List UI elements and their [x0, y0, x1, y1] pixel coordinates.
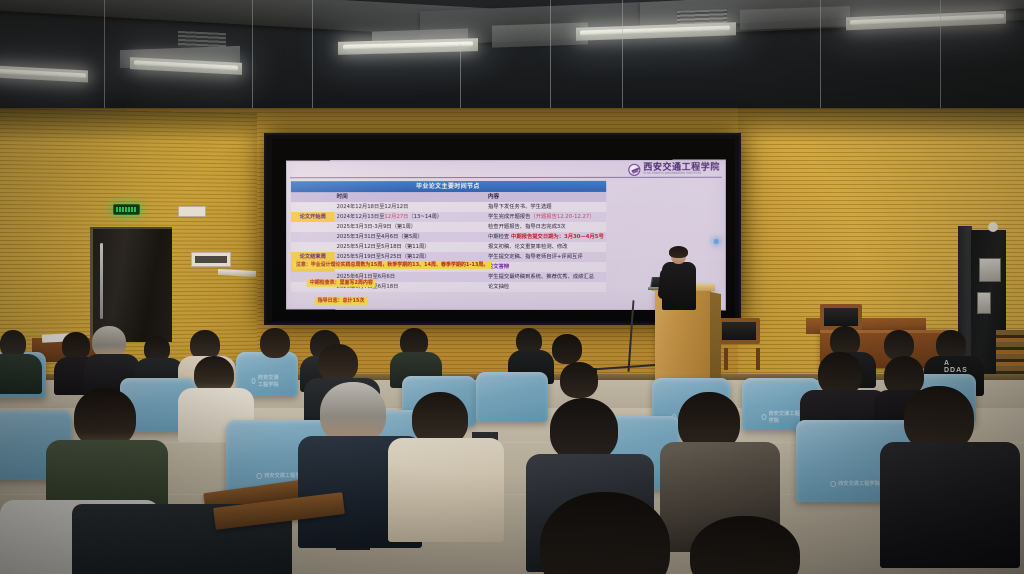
seat-logo: 西安交通工程学院	[830, 480, 880, 487]
row-content: 检查开题报告、指导日志完成3次	[486, 222, 606, 232]
door-handle-icon	[100, 243, 103, 319]
row-phase-tag	[291, 232, 335, 242]
seat-logo: 西安交通工程学院	[762, 410, 801, 424]
row-content: 中期检查 中期报告提交日期为：3月30—4月5号	[486, 232, 606, 242]
table-title-row: 毕业论文主要时间节点	[291, 181, 606, 192]
head	[320, 382, 386, 444]
rack-panel	[977, 292, 991, 314]
head	[318, 344, 358, 382]
row-phase-tag	[291, 202, 335, 212]
row-date: 2024年12月18日至12月12日	[335, 202, 486, 212]
slide-title: 毕业论文主要时间节点	[291, 181, 606, 192]
column-header-tag	[291, 192, 335, 202]
row-date: 2024年12月13日至12月27日（13~14周）	[335, 212, 486, 222]
seat-logo-text: 西安交通工程学院	[838, 480, 880, 487]
rack-panel	[979, 258, 1001, 282]
column-header-content: 内容	[486, 192, 606, 202]
hanging-wire	[550, 0, 551, 108]
wall-vent-icon	[191, 252, 231, 267]
presenter-hair	[669, 246, 688, 258]
podium-side	[710, 292, 721, 386]
seat-logo-mark-icon	[762, 414, 767, 420]
slide-note: 中期检查表：里面写2周内容	[307, 279, 376, 287]
column-header-time: 时间	[335, 192, 486, 202]
chair-leg	[724, 348, 728, 370]
ceiling-panel	[492, 22, 588, 47]
hanging-wire	[940, 0, 941, 108]
row-phase-tag	[291, 222, 335, 232]
exit-sign	[113, 204, 140, 215]
table-row: 2025年3月31日至4月6日（第5周）中期检查 中期报告提交日期为：3月30—…	[291, 232, 606, 242]
slide-notes: 注意：毕业设计理论实践总周数为15周，秋季学期的13、14周、春季学期的1-13…	[293, 253, 592, 307]
institution-logo: 西安交通工程学院 XI'AN TRAFFIC ENGINEERING INSTI…	[628, 163, 720, 176]
hanging-wire	[312, 0, 313, 108]
hanging-wire	[104, 0, 105, 108]
head	[552, 334, 582, 364]
torso	[0, 354, 42, 394]
wall-plate	[178, 206, 206, 217]
row-content: 学生完成开题报告（开题报告12.20-12.27）	[486, 212, 606, 222]
ceiling	[0, 0, 1024, 118]
hanging-wire	[622, 0, 623, 108]
projector-hotspot	[714, 239, 719, 244]
row-date: 2025年3月3日-3月9日（第1周）	[335, 222, 486, 232]
torso	[880, 442, 1020, 568]
seat-logo-mark-icon	[252, 378, 256, 384]
row-phase-tag	[291, 242, 335, 252]
table-row: 2024年12月18日至12月12日指导下发任务书、学生选题	[291, 202, 606, 212]
head	[550, 398, 618, 462]
head	[260, 328, 290, 358]
hanging-wire	[252, 0, 253, 108]
head	[62, 332, 90, 360]
hanging-wire	[460, 44, 461, 108]
row-date: 2025年5月12日至5月18日（第11周）	[335, 242, 486, 252]
seat-logo-mark-icon	[830, 481, 836, 487]
seat-logo-text: 西安交通工程学院	[258, 374, 283, 388]
table-row: 2025年5月12日至5月18日（第11周）报文初稿、论文重复率检测、修改	[291, 242, 606, 252]
lecture-hall-photo: 西安交通工程学院 XI'AN TRAFFIC ENGINEERING INSTI…	[0, 0, 1024, 574]
row-phase-tag: 论文开始周	[291, 212, 335, 222]
jacket-text: A DDAS	[944, 360, 968, 374]
table-body: 毕业论文主要时间节点 时间 内容	[291, 181, 606, 202]
seat-logo-text: 西安交通工程学院	[769, 410, 801, 424]
hanging-wire	[820, 0, 821, 108]
row-date: 2025年3月31日至4月6日（第5周）	[335, 232, 486, 242]
table-row: 2025年3月3日-3月9日（第1周）检查开题报告、指导日志完成3次	[291, 222, 606, 232]
stage-chair[interactable]	[718, 318, 760, 344]
seat-logo-mark-icon	[256, 473, 262, 479]
hall-door[interactable]	[90, 227, 172, 342]
ceiling-panel	[740, 6, 850, 30]
row-content: 报文初稿、论文重复率检测、修改	[486, 242, 606, 252]
slide-divider	[290, 177, 722, 178]
chair-leg	[756, 348, 760, 370]
torso	[388, 438, 504, 542]
row-content: 指导下发任务书、学生选题	[486, 202, 606, 212]
head	[74, 388, 136, 448]
presenter	[662, 247, 696, 309]
rack-cap	[988, 222, 998, 232]
table-header-row: 时间 内容	[291, 192, 606, 202]
table-row: 论文开始周2024年12月13日至12月27日（13~14周）学生完成开题报告（…	[291, 212, 606, 222]
slide-note: 注意：毕业设计理论实践总周数为15周，秋季学期的13、14周、春季学期的1-13…	[293, 261, 491, 269]
head	[560, 362, 598, 398]
logo-mark-icon	[628, 163, 640, 175]
institution-name-en: XI'AN TRAFFIC ENGINEERING INSTITUTE	[643, 173, 720, 176]
seat-logo: 西安交通工程学院	[252, 374, 283, 388]
seat[interactable]	[476, 372, 548, 422]
slide-note: 指导日志：总计15次	[315, 297, 368, 305]
